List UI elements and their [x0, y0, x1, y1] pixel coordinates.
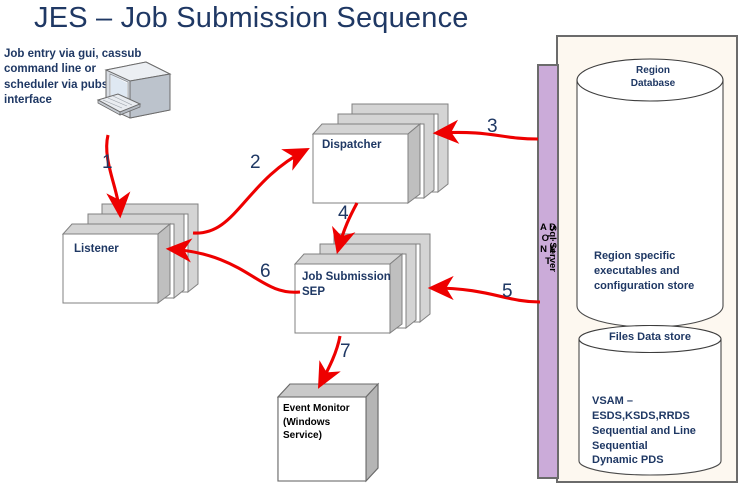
job-submission-sep-label: Job Submission SEP [302, 270, 394, 300]
dispatcher-node[interactable]: Dispatcher [312, 100, 452, 204]
listener-node[interactable]: Listener [62, 200, 202, 304]
region-database-body: Region specific executables and configur… [594, 249, 734, 294]
region-database-title: Region Database [608, 64, 698, 90]
step-number-3: 3 [487, 116, 498, 138]
dispatcher-label: Dispatcher [322, 138, 410, 153]
listener-label: Listener [74, 242, 158, 257]
step-number-5: 5 [502, 281, 513, 303]
sql-server-label: Sql Server [547, 225, 558, 272]
job-submission-sep-node[interactable]: Job Submission SEP [294, 230, 434, 334]
files-data-store-title: Files Data store [594, 330, 706, 344]
step-number-2: 2 [250, 152, 261, 174]
step-number-1: 1 [102, 152, 113, 174]
step-number-7: 7 [340, 341, 351, 363]
step-number-6: 6 [260, 261, 271, 283]
event-monitor-node[interactable]: Event Monitor (Windows Service) [277, 382, 383, 486]
files-data-store-body: VSAM – ESDS,KSDS,RRDS Sequential and Lin… [592, 394, 732, 468]
event-monitor-label: Event Monitor (Windows Service) [283, 402, 357, 443]
step-number-4: 4 [338, 203, 349, 225]
diagram-canvas: JES – Job Submission Sequence Job entry … [0, 0, 742, 492]
workstation-icon [96, 60, 176, 122]
page-title: JES – Job Submission Sequence [34, 2, 469, 35]
